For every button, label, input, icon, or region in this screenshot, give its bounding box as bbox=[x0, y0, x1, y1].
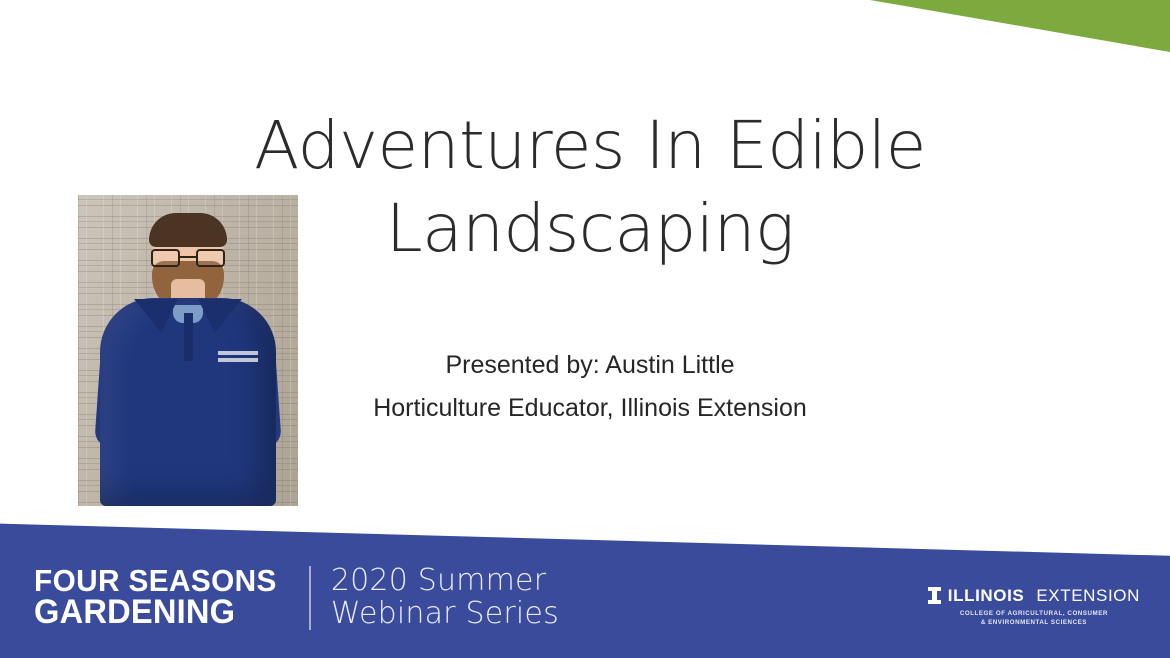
series-line-year: 2020 Summer bbox=[331, 565, 559, 597]
subtitle-block: Presented by: Austin Little Horticulture… bbox=[220, 344, 960, 430]
green-diagonal-accent bbox=[870, 0, 1170, 52]
block-i-icon bbox=[928, 587, 941, 604]
extension-logo-extension: EXTENSION bbox=[1036, 586, 1140, 606]
title-block: Adventures In Edible Landscaping bbox=[240, 104, 940, 270]
presentation-slide: Adventures In Edible Landscaping Present… bbox=[0, 0, 1170, 658]
series-line-webinar: Webinar Series bbox=[331, 598, 559, 630]
brand-line-four-seasons: FOUR SEASONS bbox=[34, 566, 277, 596]
glasses-lens-left bbox=[151, 249, 180, 267]
extension-logo-illinois: ILLINOIS bbox=[948, 586, 1025, 606]
four-seasons-gardening-wordmark: FOUR SEASONS GARDENING bbox=[34, 566, 287, 628]
glasses-lens-right bbox=[196, 249, 225, 267]
glasses-icon bbox=[151, 249, 225, 267]
page-title: Adventures In Edible Landscaping bbox=[240, 104, 940, 270]
presenter-role-line: Horticulture Educator, Illinois Extensio… bbox=[220, 387, 960, 430]
four-seasons-gardening-lockup: FOUR SEASONS GARDENING 2020 Summer Webin… bbox=[34, 565, 559, 630]
extension-logo-subtitle: COLLEGE OF AGRICULTURAL, CONSUMER & ENVI… bbox=[960, 609, 1108, 628]
extension-logo-row: ILLINOIS EXTENSION bbox=[928, 586, 1140, 606]
glasses-bridge bbox=[180, 256, 196, 258]
webinar-series-wordmark: 2020 Summer Webinar Series bbox=[331, 565, 559, 630]
shirt-placket bbox=[184, 313, 193, 361]
hair-shape bbox=[149, 213, 227, 247]
brand-line-gardening: GARDENING bbox=[34, 596, 277, 629]
brand-divider bbox=[309, 566, 311, 630]
presenter-name-line: Presented by: Austin Little bbox=[220, 344, 960, 387]
illinois-extension-logo: ILLINOIS EXTENSION COLLEGE OF AGRICULTUR… bbox=[928, 586, 1140, 628]
